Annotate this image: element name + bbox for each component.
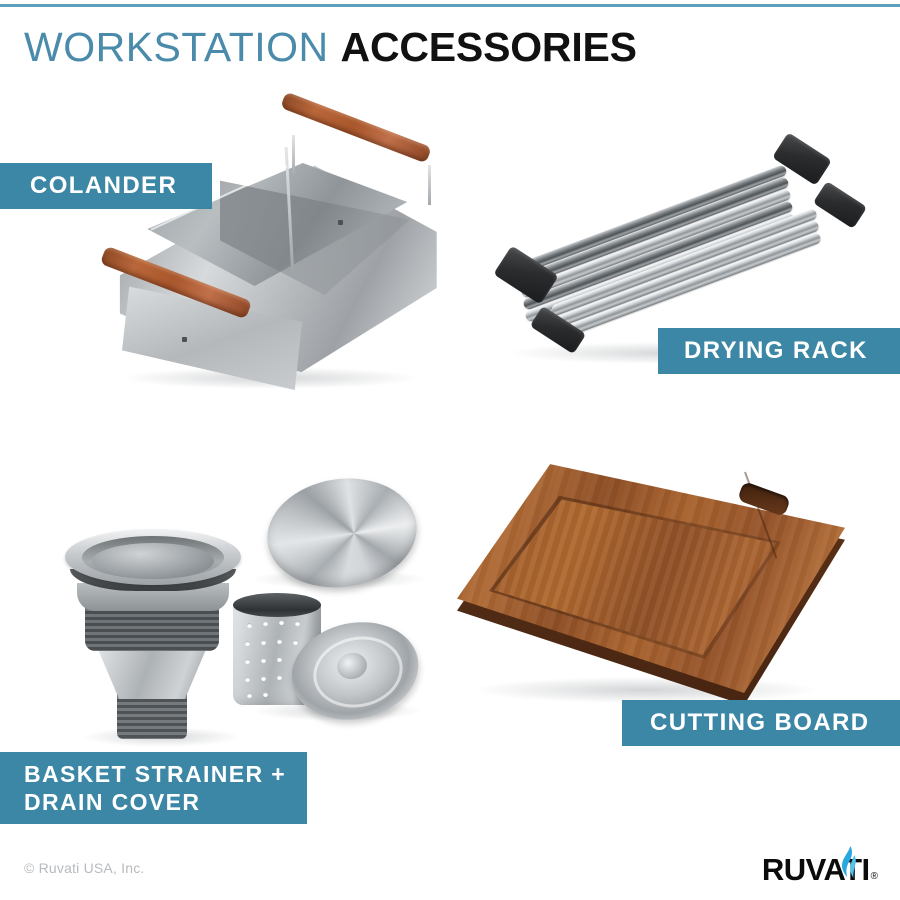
registered-trademark-symbol: ®: [871, 871, 878, 882]
page-title-light: WORKSTATION: [24, 24, 329, 70]
top-accent-rule: [0, 4, 900, 7]
basket-perforation: [247, 693, 252, 698]
drain-tailpiece: [117, 693, 187, 739]
product-accessories-poster: WORKSTATION ACCESSORIES: [0, 0, 900, 900]
basket-perforation: [245, 677, 250, 682]
handle-post: [428, 165, 431, 205]
basket-perforation: [261, 658, 266, 663]
brand-logo: RUVATI ®: [762, 851, 878, 885]
basket-perforation: [245, 641, 250, 646]
basket-perforation: [295, 621, 300, 626]
product-label-text-line2: DRAIN COVER: [24, 788, 307, 816]
mounting-hole: [338, 220, 343, 225]
drain-threads: [85, 605, 219, 651]
product-label-colander[interactable]: COLANDER: [0, 163, 212, 209]
basket-perforation: [277, 675, 282, 680]
basket-perforation: [277, 639, 282, 644]
product-image-colander: [100, 105, 460, 415]
product-label-basket-strainer[interactable]: BASKET STRAINER + DRAIN COVER: [0, 752, 307, 824]
basket-perforation: [293, 640, 298, 645]
end-cap-right-lower: [813, 181, 867, 229]
brand-logo-wordmark: RUVATI: [762, 854, 870, 885]
basket-perforation: [263, 621, 268, 626]
basket-perforation: [279, 620, 284, 625]
product-image-basket-strainer: [55, 465, 430, 755]
drain-taper: [97, 647, 207, 699]
basket-perforation: [247, 623, 252, 628]
page-title: WORKSTATION ACCESSORIES: [24, 22, 637, 72]
basket-perforation: [261, 640, 266, 645]
product-label-text: COLANDER: [30, 171, 212, 200]
mounting-hole: [182, 337, 187, 342]
basket-perforation: [245, 659, 250, 664]
basket-perforation: [263, 692, 268, 697]
product-label-text: CUTTING BOARD: [650, 708, 900, 737]
product-label-cutting-board[interactable]: CUTTING BOARD: [622, 700, 900, 746]
product-label-drying-rack[interactable]: DRYING RACK: [658, 328, 900, 374]
drain-bowl: [92, 543, 214, 579]
strainer-basket-opening: [233, 593, 321, 617]
copyright-text: © Ruvati USA, Inc.: [24, 860, 145, 876]
wood-handle-rail-back: [280, 92, 432, 164]
page-title-bold: ACCESSORIES: [341, 24, 637, 70]
product-image-cutting-board: [445, 445, 865, 740]
handle-post: [292, 135, 295, 177]
basket-perforation: [277, 657, 282, 662]
basket-perforation: [261, 676, 266, 681]
product-label-text-line1: BASKET STRAINER +: [24, 760, 307, 788]
product-label-text: DRYING RACK: [684, 336, 900, 365]
